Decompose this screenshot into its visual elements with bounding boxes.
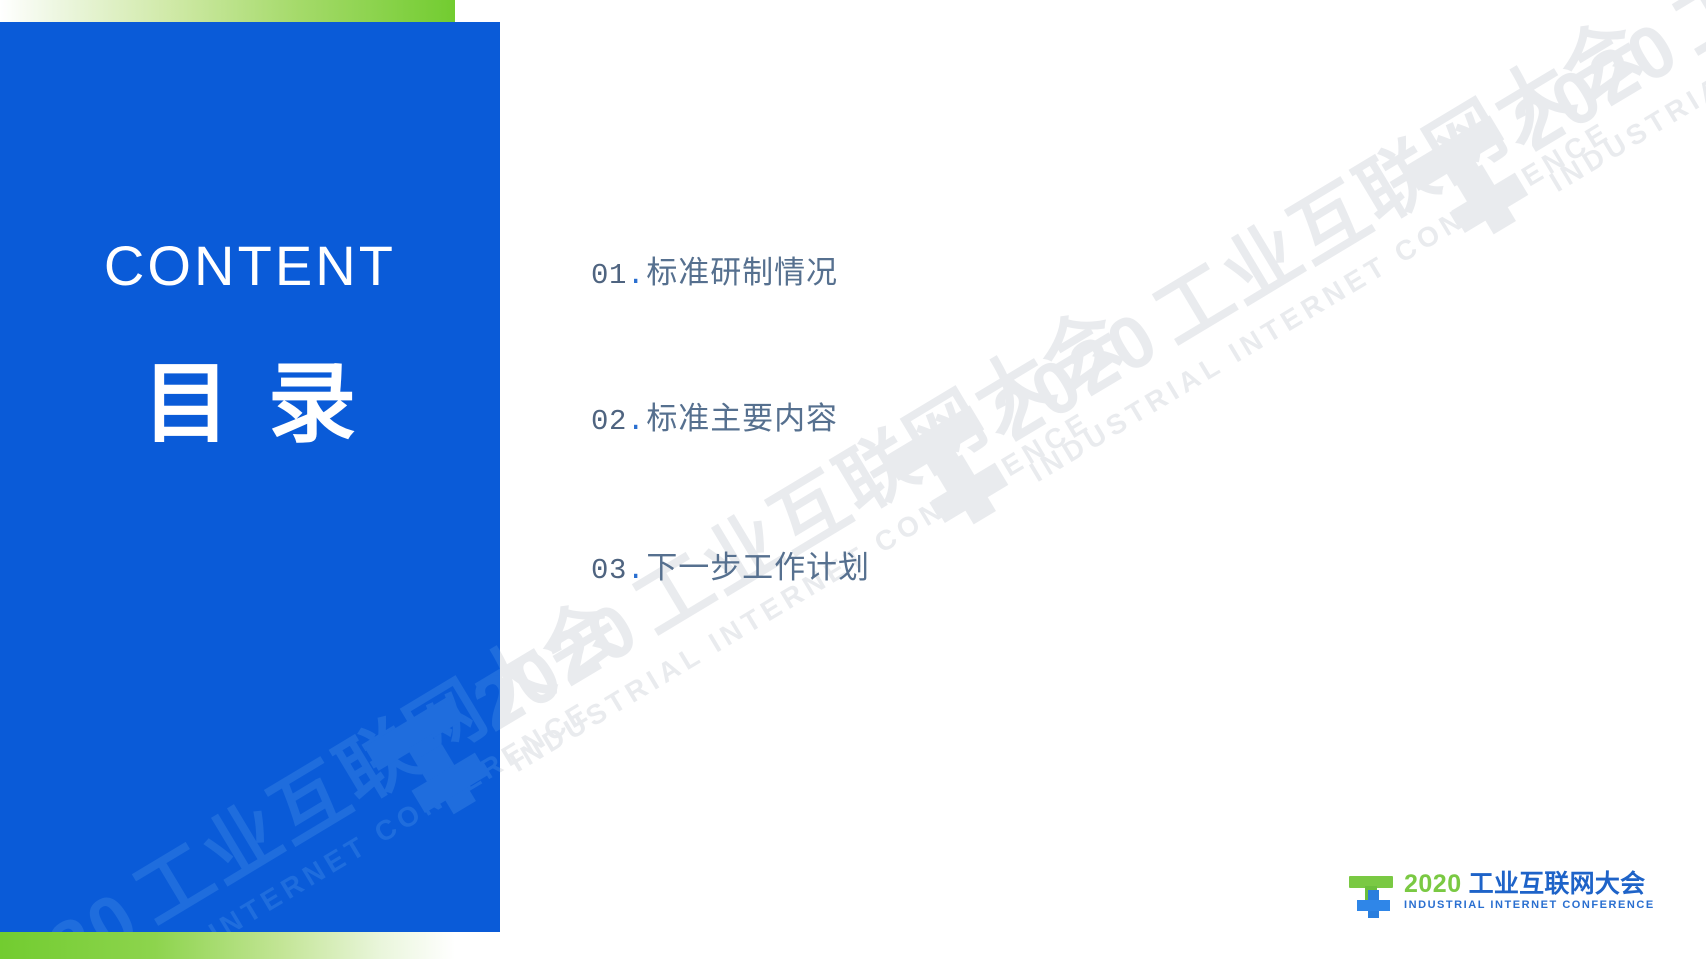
watermark-name-cn: 工业互联网大会	[1663, 0, 1706, 67]
watermark-name-en: INDUSTRIAL INTERNET CONFERENCE	[1025, 81, 1675, 487]
toc-item-02[interactable]: 02 . 标准主要内容	[591, 403, 838, 437]
toc-item-number: 03	[591, 556, 627, 585]
green-accent-bar-top	[0, 0, 455, 22]
page-title-cn-char-1: 目	[142, 354, 232, 453]
toc-item-dot: .	[627, 407, 644, 436]
watermark-year: 2020	[1502, 9, 1691, 163]
page-title-cn-char-2: 录	[268, 354, 358, 453]
toc-item-number: 02	[591, 407, 627, 436]
watermark-logo-icon	[881, 398, 1028, 548]
presentation-slide: 2020 工业互联网大会 INDUSTRIAL INTERNET CONFERE…	[0, 0, 1706, 959]
toc-item-label: 标准研制情况	[646, 257, 838, 288]
toc-item-03[interactable]: 03 . 下一步工作计划	[591, 552, 870, 586]
conference-logo-icon	[1349, 872, 1395, 919]
conference-logo-name-cn: 工业互联网大会	[1469, 872, 1646, 897]
watermark-tile: 2020 工业互联网大会 INDUSTRIAL INTERNET CONFERE…	[880, 7, 1676, 548]
toc-item-dot: .	[627, 556, 644, 585]
toc-item-number: 01	[591, 261, 627, 290]
toc-item-01[interactable]: 01 . 标准研制情况	[591, 257, 838, 291]
watermark-name-cn: 工业互联网大会	[623, 297, 1136, 647]
watermark-name-en: INDUSTRIAL INTERNET CONFERENCE	[1545, 0, 1706, 197]
watermark-name-cn: 工业互联网大会	[1143, 7, 1656, 357]
panel-content: CONTENT 目录	[0, 22, 500, 932]
conference-logo-row-primary: 2020 工业互联网大会	[1404, 872, 1655, 897]
conference-logo-name-en: INDUSTRIAL INTERNET CONFERENCE	[1404, 900, 1655, 911]
conference-logo: 2020 工业互联网大会 INDUSTRIAL INTERNET CONFERE…	[1349, 872, 1655, 919]
page-title-en: CONTENT	[104, 238, 396, 294]
watermark-logo-icon	[1401, 108, 1548, 258]
conference-logo-year: 2020	[1404, 872, 1462, 897]
left-title-panel: 2020 工业互联网大会 INDUSTRIAL INTERNET CONFERE…	[0, 22, 500, 932]
green-accent-bar-bottom	[0, 932, 455, 959]
toc-item-label: 标准主要内容	[646, 403, 838, 434]
toc-item-label: 下一步工作计划	[646, 552, 870, 583]
watermark-tile: 2020 工业互联网大会 INDUSTRIAL INTERNET CONFERE…	[1400, 0, 1706, 258]
toc-item-dot: .	[627, 261, 644, 290]
watermark-year: 2020	[982, 299, 1171, 453]
conference-logo-text: 2020 工业互联网大会 INDUSTRIAL INTERNET CONFERE…	[1404, 872, 1655, 911]
page-title-cn: 目录	[142, 360, 358, 448]
